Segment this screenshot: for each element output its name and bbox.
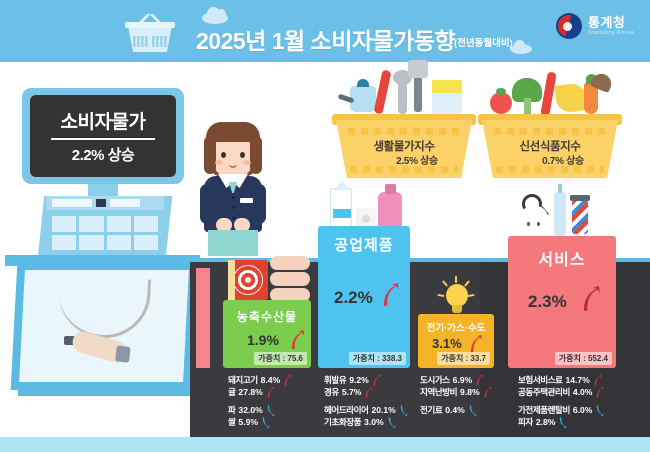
item-value: 4.0%	[573, 386, 593, 398]
item-value: 8.4%	[261, 374, 281, 386]
list-item: 가전제품렌탈비 6.0%	[518, 404, 644, 416]
industrial-bar-icons	[326, 196, 404, 230]
list-item: 공동주택관리비 4.0%	[518, 386, 644, 398]
item-value: 6.0%	[573, 404, 593, 416]
bar-percent: 2.3%	[528, 292, 567, 312]
item-value: 9.2%	[349, 374, 369, 386]
item-value: 27.8%	[238, 386, 262, 398]
bar-title: 전기·가스·수도	[418, 320, 494, 334]
uniform-button	[232, 216, 235, 219]
living-cost-index-value: 2.5% 상승	[336, 152, 472, 167]
page-subtitle: (전년동월대비)	[454, 35, 513, 49]
logo-name-ko: 통계청	[588, 16, 634, 30]
eye	[527, 222, 530, 226]
up-arrow-icon	[380, 283, 400, 307]
bar-title: 서비스	[508, 246, 616, 270]
bar-services[interactable]: 서비스 2.3% 가중치 : 552.4	[508, 236, 616, 368]
basket-slots	[350, 166, 458, 173]
up-arrow-icon	[580, 286, 601, 312]
basket-slots	[348, 128, 460, 135]
bar-percent: 3.1%	[432, 336, 462, 351]
fresh-food-index-value: 0.7% 상승	[482, 152, 618, 167]
down-arrow-icon	[261, 417, 270, 428]
hair-left	[204, 136, 216, 174]
eggs-icon	[270, 256, 310, 302]
egg-tray-row	[270, 256, 310, 270]
divider	[51, 138, 155, 140]
detergent-bottle-icon	[378, 192, 402, 230]
bar-weight: 가중치 : 33.7	[437, 352, 490, 365]
eye-left	[221, 152, 226, 158]
ladle-icon	[398, 74, 407, 114]
bar-electricity-gas-water[interactable]: 전기·가스·수도 3.1% 가중치 : 33.7	[418, 314, 494, 368]
fresh-food-index-basket: 신선식품지수 0.7% 상승	[482, 120, 618, 178]
spatula-icon	[414, 68, 422, 112]
hair-right	[250, 136, 262, 174]
cpi-label: 소비자물가	[61, 107, 146, 134]
detail-list-services: 보험서비스료 14.7% 공동주택관리비 4.0% 가전제품렌탈비 6.0% 피…	[518, 374, 644, 428]
item-name: 휘발유	[324, 374, 346, 386]
cpi-value: 2.2% 상승	[72, 144, 134, 165]
up-arrow-icon	[483, 387, 492, 398]
item-name: 파	[228, 404, 235, 416]
up-arrow-icon	[468, 335, 483, 353]
register-key	[107, 216, 131, 232]
uniform-button	[232, 206, 235, 209]
register-key	[79, 235, 103, 251]
item-value: 32.0%	[238, 404, 262, 416]
basket-slots	[496, 166, 604, 173]
up-arrow-icon	[283, 375, 292, 386]
uniform-button	[232, 196, 235, 199]
item-value: 20.1%	[371, 404, 395, 416]
item-value: 9.8%	[460, 386, 480, 398]
item-name: 귤	[228, 386, 235, 398]
eye-right	[240, 152, 245, 158]
meat-icon	[228, 260, 268, 300]
agriculture-bar-icons	[228, 256, 308, 302]
kettle-icon	[350, 86, 376, 112]
cheek-left	[215, 160, 223, 165]
lightbulb-icon	[442, 276, 470, 316]
register-key	[107, 235, 131, 251]
taegeuk-icon	[556, 13, 582, 39]
register-key	[52, 216, 76, 232]
item-name: 전기료	[420, 404, 442, 416]
item-value: 5.7%	[342, 386, 362, 398]
register-display-mid	[96, 199, 106, 207]
down-arrow-icon	[468, 405, 477, 416]
item-name: 경유	[324, 386, 339, 398]
down-arrow-icon	[399, 405, 408, 416]
services-bar-icons	[516, 196, 608, 238]
logo-name-en: Statistics Korea	[588, 30, 634, 36]
up-arrow-icon	[372, 375, 381, 386]
item-value: 14.7%	[565, 374, 589, 386]
item-name: 공동주택관리비	[518, 386, 570, 398]
list-item: 도시가스 6.9%	[420, 374, 532, 386]
cheek-right	[243, 160, 251, 165]
panel-accent-bar	[196, 268, 210, 368]
cloud-icon	[510, 44, 532, 54]
list-item: 피자 2.8%	[518, 416, 644, 428]
page-title: 2025년 1월 소비자물가동향	[196, 22, 455, 56]
item-name: 지역난방비	[420, 386, 457, 398]
milk-carton-icon	[330, 188, 352, 230]
item-name: 쌀	[228, 416, 235, 428]
cpi-monitor-screen: 소비자물가 2.2% 상승	[30, 95, 176, 177]
item-value: 2.8%	[536, 416, 556, 428]
item-name: 보험서비스료	[518, 374, 562, 386]
eye	[537, 222, 540, 226]
infographic-canvas: 2025년 1월 소비자물가동향 (전년동월대비) 통계청 Statistics…	[0, 0, 650, 452]
item-value: 3.0%	[364, 416, 384, 428]
brush-icon	[374, 70, 392, 115]
register-display-right	[110, 199, 140, 207]
item-name: 헤어드라이어	[324, 404, 368, 416]
barber-pole-icon	[572, 200, 588, 234]
bar-weight: 가중치 : 75.6	[254, 352, 307, 365]
bar-agriculture-livestock-fishery[interactable]: 농축수산물 1.9% 가중치 : 75.6	[223, 300, 311, 368]
item-value: 6.9%	[453, 374, 473, 386]
list-item: 기초화장품 3.0%	[324, 416, 436, 428]
cashier-character	[196, 122, 270, 262]
broccoli-icon	[512, 78, 542, 102]
bar-industrial-products[interactable]: 공업제품 2.2% 가중치 : 338.3	[318, 226, 410, 368]
up-arrow-icon	[289, 330, 305, 350]
statistics-korea-logo: 통계청 Statistics Korea	[556, 13, 634, 39]
name-badge	[240, 198, 253, 203]
up-arrow-icon	[266, 387, 275, 398]
list-item: 지역난방비 9.8%	[420, 386, 532, 398]
bar-title: 공업제품	[318, 234, 410, 255]
banana-icon	[554, 82, 588, 114]
footer-band	[0, 437, 650, 452]
egg-tray-row	[270, 272, 310, 286]
skirt	[208, 230, 258, 256]
bar-percent: 2.2%	[334, 288, 373, 308]
up-arrow-icon	[364, 387, 373, 398]
list-item: 전기료 0.4%	[420, 404, 532, 416]
page-header: 2025년 1월 소비자물가동향 (전년동월대비) 통계청 Statistics…	[0, 0, 650, 62]
bar-title: 농축수산물	[223, 308, 311, 325]
basket-slots	[494, 128, 606, 135]
living-cost-index-basket: 생활물가지수 2.5% 상승	[336, 120, 472, 178]
item-name: 기초화장품	[324, 416, 361, 428]
tooth-icon	[520, 206, 548, 236]
register-key	[52, 235, 76, 251]
arm-right	[252, 184, 266, 224]
bar-weight: 가중치 : 552.4	[555, 352, 612, 365]
item-name: 돼지고기	[228, 374, 258, 386]
item-name: 피자	[518, 416, 533, 428]
shopping-basket-icon	[124, 14, 176, 54]
up-arrow-icon	[595, 387, 604, 398]
register-key	[79, 216, 103, 232]
item-value: 5.9%	[238, 416, 258, 428]
up-arrow-icon	[475, 375, 484, 386]
bar-percent: 1.9%	[247, 332, 279, 348]
register-display-left	[52, 199, 92, 207]
cpi-monitor: 소비자물가 2.2% 상승	[22, 88, 184, 184]
arm-left	[200, 184, 214, 224]
item-name: 도시가스	[420, 374, 450, 386]
register-key	[134, 216, 158, 232]
item-name: 가전제품렌탈비	[518, 404, 570, 416]
up-arrow-icon	[593, 375, 602, 386]
bar-weight: 가중치 : 338.3	[349, 352, 406, 365]
register-keypad	[52, 216, 158, 250]
down-arrow-icon	[387, 417, 396, 428]
down-arrow-icon	[595, 405, 604, 416]
package-icon	[432, 80, 462, 114]
item-value: 0.4%	[445, 404, 465, 416]
counter-base	[18, 386, 190, 396]
syringe-icon	[554, 192, 566, 236]
list-item: 보험서비스료 14.7%	[518, 374, 644, 386]
register-key	[134, 235, 158, 251]
brush-icon	[540, 72, 557, 117]
down-arrow-icon	[558, 417, 567, 428]
detail-list-utilities: 도시가스 6.9% 지역난방비 9.8% 전기료 0.4%	[420, 374, 532, 416]
down-arrow-icon	[266, 405, 275, 416]
tomato-icon	[490, 92, 512, 114]
